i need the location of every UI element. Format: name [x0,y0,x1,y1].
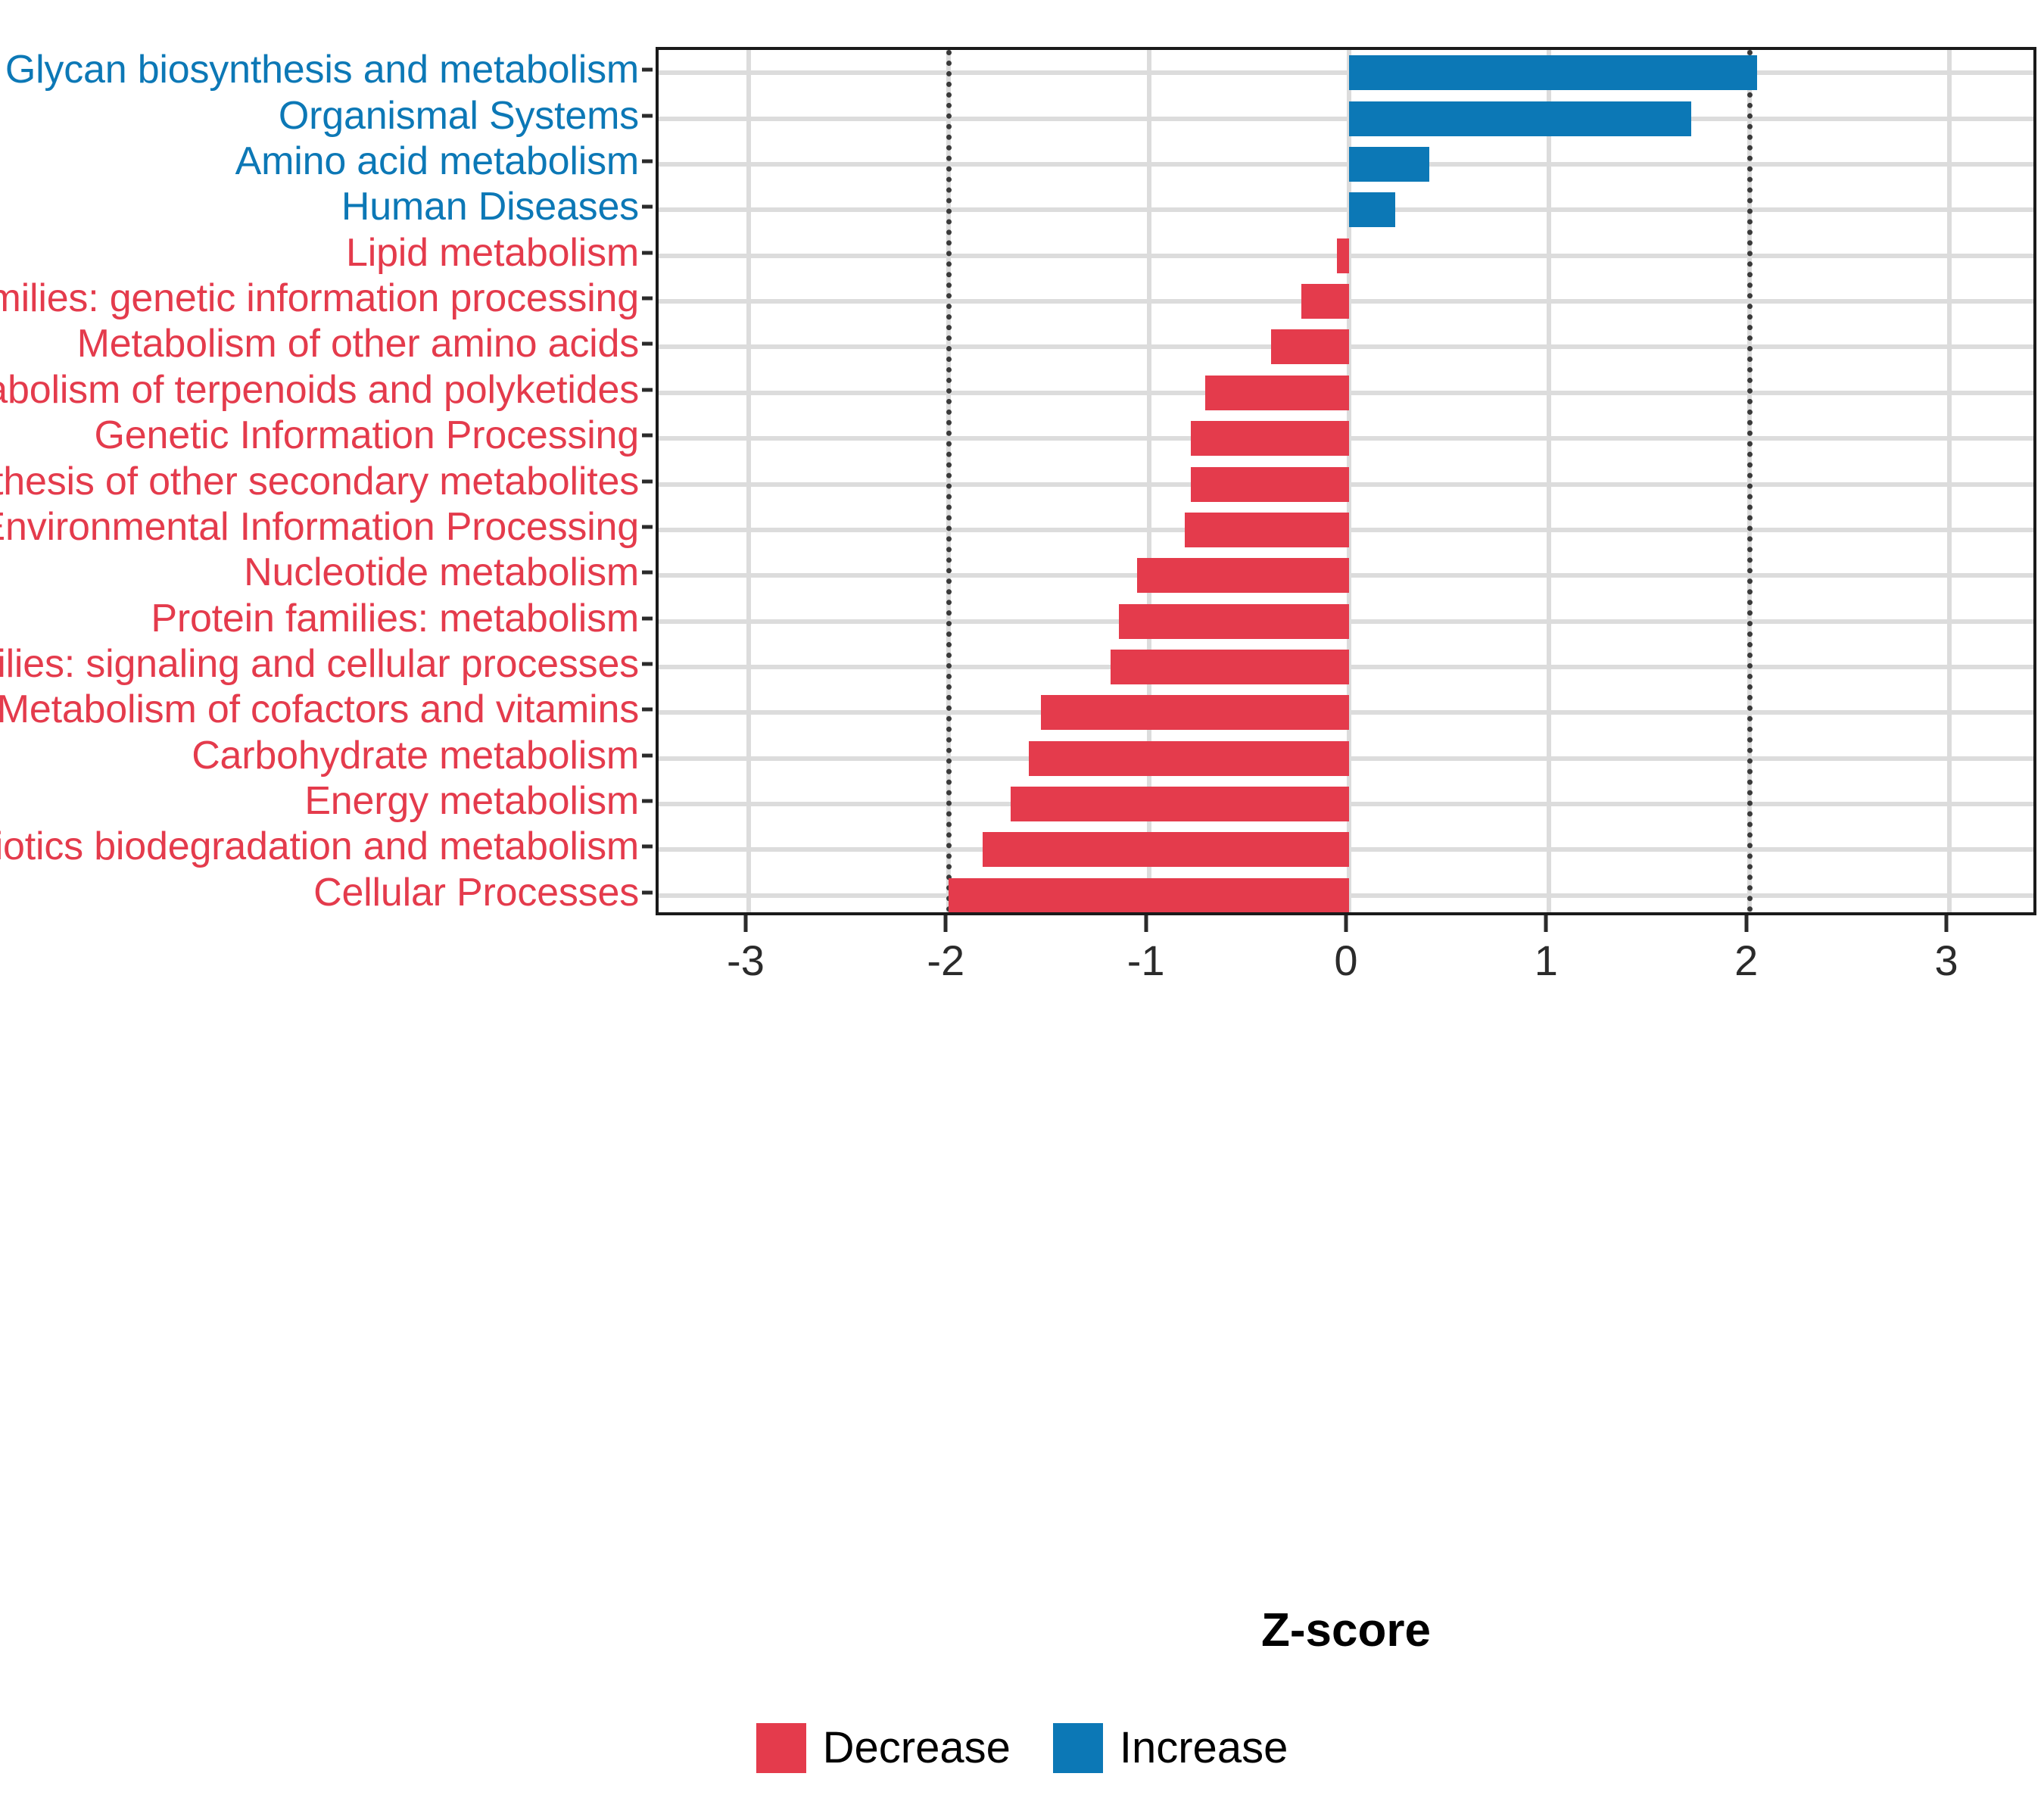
y-gridline [659,70,2033,75]
bar [1041,695,1349,730]
x-axis-tick-mark [1544,915,1548,932]
bar [983,832,1349,867]
y-axis-tick-mark [642,434,653,438]
y-axis-tick-label: Protein families: genetic information pr… [0,279,639,318]
x-axis-tick-mark [1945,915,1949,932]
x-axis-tick-mark [944,915,948,932]
y-axis-tick-mark [642,114,653,117]
bar [1191,421,1349,456]
legend-label: Decrease [823,1722,1011,1773]
x-axis-tick-label: 0 [1334,938,1357,983]
bar-chart-figure: Glycan biosynthesis and metabolismOrgani… [0,0,2044,1817]
y-axis-tick-label: Metabolism of terpenoids and polyketides [0,370,639,410]
y-axis-tick-label: Carbohydrate metabolism [192,736,639,775]
bar [1349,101,1691,136]
y-axis-tick-label: Human Diseases [341,187,639,226]
y-gridline [659,162,2033,167]
x-gridline [1947,50,1952,912]
y-axis-tick-label: Lipid metabolism [346,233,639,273]
bar [1011,787,1349,821]
y-axis-tick-mark [642,342,653,346]
reference-line [1747,50,1753,912]
chart-legend: DecreaseIncrease [0,1722,2044,1773]
bar [1029,741,1349,776]
x-axis-tick-label: -1 [1127,938,1165,983]
x-gridline [1547,50,1551,912]
y-axis-tick-label: Protein families: metabolism [151,599,639,638]
y-axis-tick-mark [642,159,653,163]
x-gridline [746,50,751,912]
y-axis-tick-label: Protein families: signaling and cellular… [0,644,639,684]
y-axis-tick-label: Energy metabolism [304,781,639,821]
y-axis-tick-mark [642,68,653,72]
legend-item: Increase [1053,1722,1288,1773]
y-axis-tick-label: Glycan biosynthesis and metabolism [5,50,639,89]
legend-swatch [1053,1723,1103,1773]
y-axis-tick-label: Xenobiotics biodegradation and metabolis… [0,827,639,866]
bar [1137,558,1349,593]
y-axis-tick-mark [642,479,653,483]
x-axis-tick-label: -2 [927,938,964,983]
reference-line [946,50,952,912]
bar [1337,238,1349,273]
bar [1301,284,1349,319]
x-axis-tick-label: -3 [727,938,765,983]
y-axis-tick-label: Environmental Information Processing [0,507,639,547]
y-axis-tick-mark [642,845,653,849]
y-axis-tick-label: Amino acid metabolism [235,142,639,181]
x-axis-tick-label: 3 [1934,938,1958,983]
y-axis-tick-mark [642,525,653,528]
y-gridline [659,207,2033,212]
x-axis-tick-mark [1744,915,1748,932]
bar [1191,467,1349,502]
x-axis: -3-2-10123 [656,915,2036,1006]
plot-panel [656,47,2036,915]
bar [949,878,1349,913]
bar [1111,650,1349,684]
x-axis-tick-mark [1144,915,1148,932]
y-axis-tick-label: Biosynthesis of other secondary metaboli… [0,462,639,501]
bar [1349,192,1395,227]
y-axis-tick-label: Metabolism of other amino acids [77,324,639,363]
y-axis-tick-label: Metabolism of cofactors and vitamins [0,690,639,729]
bar [1349,147,1429,182]
y-gridline [659,117,2033,121]
y-axis-labels: Glycan biosynthesis and metabolismOrgani… [0,47,653,915]
y-axis-tick-label: Genetic Information Processing [95,416,639,455]
y-axis-tick-mark [642,251,653,254]
bar [1185,513,1349,547]
y-axis-tick-mark [642,708,653,712]
x-axis-title: Z-score [656,1604,2036,1657]
x-axis-tick-mark [743,915,747,932]
y-axis-tick-label: Nucleotide metabolism [244,553,639,592]
legend-item: Decrease [756,1722,1011,1773]
bar [1271,329,1349,364]
y-axis-tick-mark [642,890,653,894]
y-axis-tick-mark [642,205,653,209]
bar [1205,376,1349,410]
x-axis-tick-label: 2 [1734,938,1758,983]
bar [1119,604,1349,639]
legend-swatch [756,1723,806,1773]
y-axis-tick-mark [642,388,653,391]
bar [1349,55,1757,90]
y-axis-tick-label: Cellular Processes [313,873,639,912]
y-axis-tick-mark [642,297,653,301]
y-axis-tick-mark [642,753,653,757]
x-gridline [1147,50,1151,912]
y-axis-tick-mark [642,616,653,620]
x-axis-tick-mark [1344,915,1348,932]
y-axis-tick-mark [642,662,653,665]
y-axis-tick-mark [642,799,653,803]
y-axis-tick-mark [642,571,653,575]
y-axis-tick-label: Organismal Systems [279,96,639,136]
x-axis-tick-label: 1 [1535,938,1558,983]
legend-label: Increase [1120,1722,1288,1773]
